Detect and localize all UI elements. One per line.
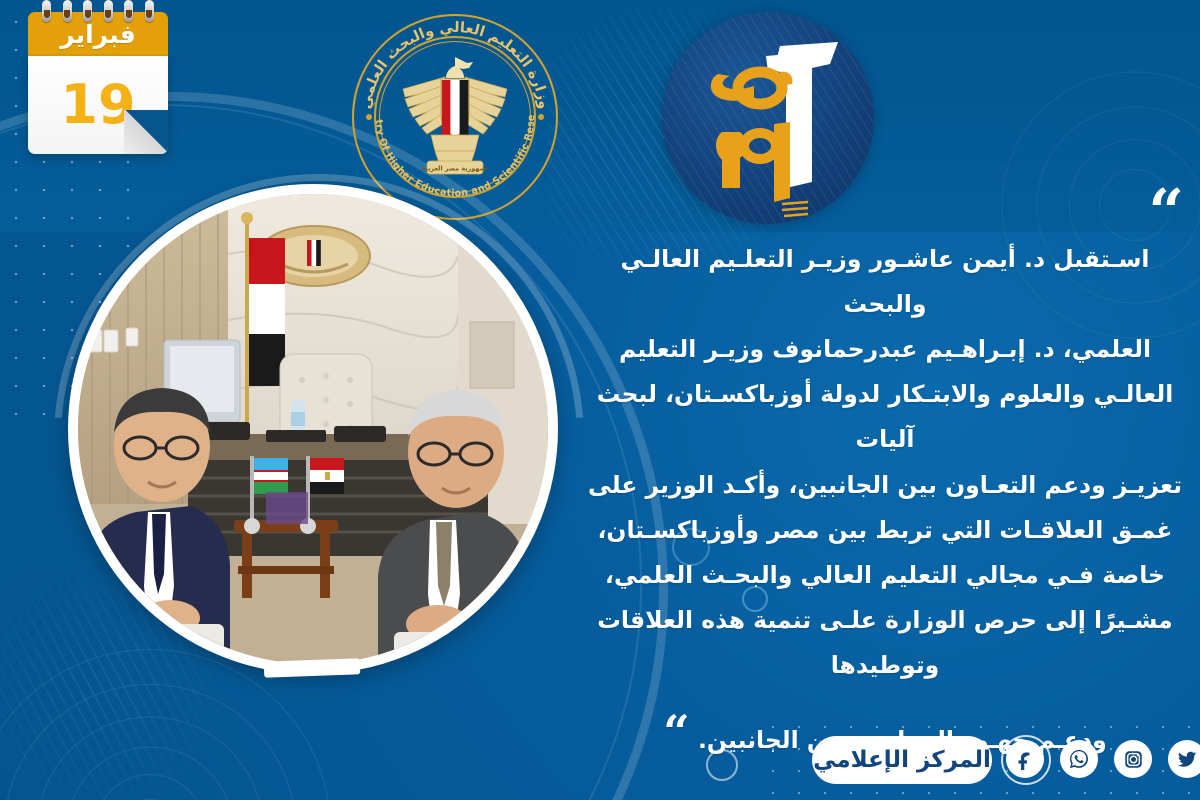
quote-line: العلمي، د. إبـراهـيم عبدرحمانوف وزيـر ال…	[586, 327, 1184, 372]
quote-close-mark: “	[663, 705, 689, 759]
media-center-label: المركز الإعلامي	[813, 747, 991, 773]
eagle-of-saladin-icon: جمهورية مصر العربية	[397, 53, 513, 181]
quote-block: “ اسـتقبل د. أيمن عاشـور وزيـر التعلـيم …	[586, 196, 1184, 776]
calendar-month-label: فبراير	[60, 20, 136, 49]
sada-ayam-brand-badge	[662, 12, 874, 224]
meeting-photo-illustration	[78, 194, 548, 664]
instagram-glyph	[1123, 749, 1144, 770]
quote-line: خاصة فـي مجالي التعليم العالي والبحـث ال…	[586, 553, 1184, 598]
quote-open-mark: “	[586, 196, 1184, 227]
whatsapp-icon[interactable]	[1060, 740, 1098, 778]
quote-line: مشـيرًا إلى حرص الوزارة علـى تنمية هذه ا…	[586, 598, 1184, 688]
quote-line: اسـتقبل د. أيمن عاشـور وزيـر التعلـيم ال…	[586, 237, 1184, 327]
decorative-ring-footer	[706, 749, 738, 781]
photo-image	[78, 194, 548, 664]
quote-line: العالـي والعلوم والابتـكار لدولة أوزباكس…	[586, 372, 1184, 462]
quote-text: اسـتقبل د. أيمن عاشـور وزيـر التعلـيم ال…	[586, 237, 1184, 776]
date-calendar: فبراير 19	[28, 6, 168, 154]
quote-line: تعزيـز ودعم التعـاون بين الجانبين، وأكـد…	[586, 463, 1184, 508]
twitter-icon[interactable]	[1168, 740, 1200, 778]
facebook-icon[interactable]	[1006, 740, 1044, 778]
whatsapp-glyph	[1068, 748, 1090, 770]
calendar-spiral-rings	[42, 0, 154, 20]
seal-shield-motto: جمهورية مصر العربية	[422, 165, 489, 173]
news-photo	[68, 184, 558, 674]
social-links	[1006, 740, 1200, 778]
media-center-badge: المركز الإعلامي	[812, 736, 992, 784]
instagram-icon[interactable]	[1114, 740, 1152, 778]
badge-wordmark	[662, 12, 874, 224]
poster-canvas: فبراير 19 وزارة التعليم العالي والبحث ال…	[0, 0, 1200, 800]
photo-bottom-notch	[264, 658, 360, 677]
facebook-glyph	[1014, 748, 1036, 770]
calendar-day-body: 19	[28, 56, 168, 154]
twitter-glyph	[1176, 748, 1198, 770]
quote-line: غمـق العلاقـات التي تربط بين مصر وأوزباك…	[586, 508, 1184, 553]
calendar-page-fold	[124, 110, 168, 154]
